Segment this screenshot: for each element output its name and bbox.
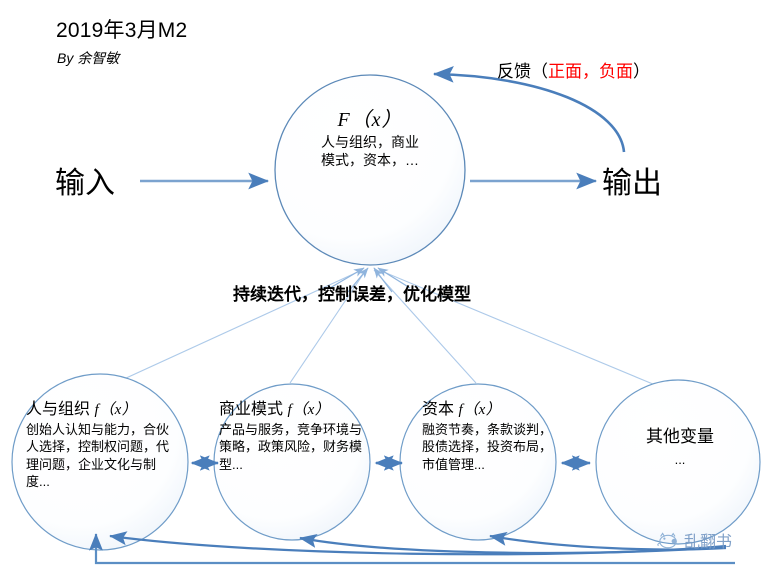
node-text-capital: 资本 f（x） 融资节奏，条款谈判，股债选择，投资布局，市值管理...: [422, 400, 562, 473]
feedback-arc: [434, 74, 624, 152]
center-node-body: 人与组织，商业模式，资本，…: [280, 134, 460, 170]
feedback-prefix: 反馈（: [497, 62, 548, 81]
feedback-suffix: ）: [633, 62, 650, 81]
feedback-label: 反馈（正面，负面）: [497, 57, 650, 82]
diagram-canvas: 2019年3月M2 By 余智敏 输入 输出 反馈（正面，负面） 持续迭代，控制…: [0, 0, 768, 577]
node-formula-capital: f（x）: [458, 402, 501, 418]
node-body-business-model: 产品与服务，竞争环境与策略，政策风险，财务模型...: [219, 421, 369, 473]
watermark: 乱翻书: [655, 528, 732, 552]
page-title: 2019年3月M2: [56, 14, 187, 44]
byline: By 余智敏: [57, 48, 119, 68]
node-body-people: 创始人认知与能力，合伙人选择，控制权问题，代理问题，企业文化与制度...: [26, 421, 176, 490]
watermark-text: 乱翻书: [684, 528, 732, 552]
node-formula-people: f（x）: [94, 402, 137, 418]
iteration-label: 持续迭代，控制误差，优化模型: [233, 280, 471, 305]
node-name-business-model: 商业模式: [219, 401, 283, 418]
node-body-other: ...: [615, 451, 745, 468]
node-text-other: 其他变量 ...: [615, 427, 745, 469]
output-label: 输出: [602, 158, 662, 202]
node-name-other: 其他变量: [646, 427, 714, 446]
feedback-highlight: 正面，负面: [548, 62, 633, 81]
node-heading-people: 人与组织 f（x）: [26, 400, 176, 419]
node-text-business-model: 商业模式 f（x） 产品与服务，竞争环境与策略，政策风险，财务模型...: [219, 400, 369, 473]
pig-icon: [655, 530, 681, 550]
node-text-people: 人与组织 f（x） 创始人认知与能力，合伙人选择，控制权问题，代理问题，企业文化…: [26, 400, 176, 490]
center-node-text: F（x） 人与组织，商业模式，资本，…: [280, 108, 460, 170]
node-heading-business-model: 商业模式 f（x）: [219, 400, 369, 419]
node-name-people: 人与组织: [26, 401, 90, 418]
node-heading-capital: 资本 f（x）: [422, 400, 562, 419]
center-circle: [275, 75, 465, 265]
node-heading-other: 其他变量: [615, 427, 745, 447]
node-name-capital: 资本: [422, 401, 454, 418]
node-formula-business-model: f（x）: [287, 402, 330, 418]
node-body-capital: 融资节奏，条款谈判，股债选择，投资布局，市值管理...: [422, 421, 562, 473]
center-node-formula: F（x）: [280, 108, 460, 133]
input-label: 输入: [55, 158, 115, 202]
